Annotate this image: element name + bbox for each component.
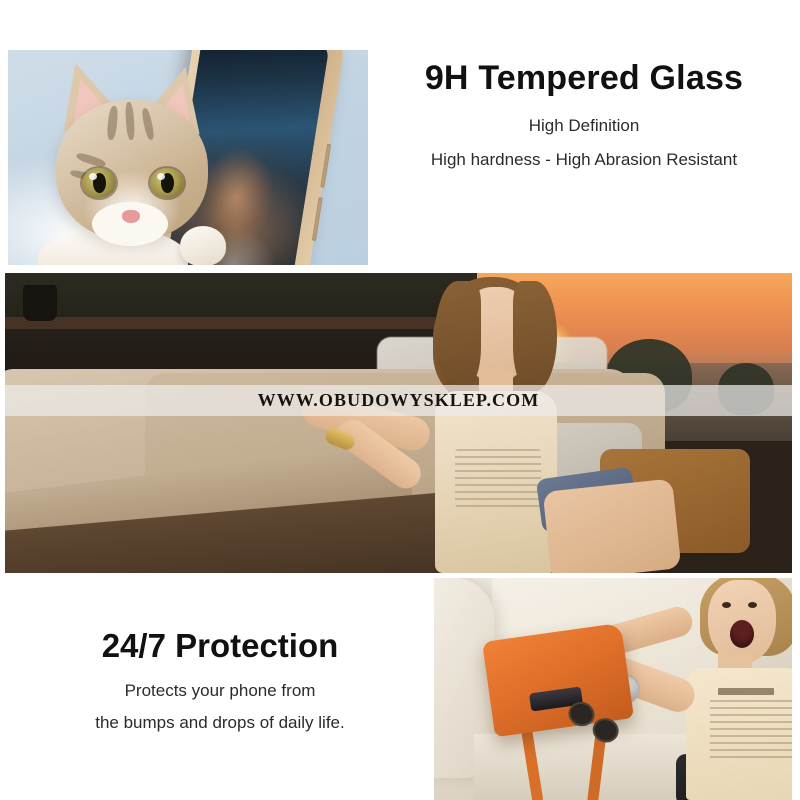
kitten-nose [122,210,140,223]
shelf [5,317,461,329]
subline-protects-phone: Protects your phone from [30,680,410,702]
tank-top-print-title [718,688,774,695]
section-tempered-glass: 9H Tempered Glass High Definition High h… [0,0,800,268]
kitten-eye-right [150,168,184,198]
photo-cat-with-phone [8,50,368,265]
photo-bag-sunset-banner: WWW.OBUDOWYSKLEP.COM [5,273,792,573]
watermark-text: WWW.OBUDOWYSKLEP.COM [258,390,540,411]
tempered-glass-copy: 9H Tempered Glass High Definition High h… [380,60,788,170]
subline-high-definition: High Definition [380,115,788,136]
watermark-band: WWW.OBUDOWYSKLEP.COM [5,385,792,416]
woman-with-bag [397,273,587,573]
protection-copy: 24/7 Protection Protects your phone from… [30,628,410,734]
woman-eye [748,602,757,608]
subline-bumps-drops: the bumps and drops of daily life. [30,712,410,734]
woman-hair-strand [435,281,481,391]
kitten [30,60,245,265]
kitten-paw [180,226,226,265]
kitten-eye-glint [157,173,165,180]
kitten-muzzle [92,202,168,246]
subline-hardness: High hardness - High Abrasion Resistant [380,149,788,170]
shocked-woman [656,578,792,800]
woman-eye [722,602,731,608]
woman-open-mouth [730,620,754,648]
section-protection: 24/7 Protection Protects your phone from… [0,573,800,800]
photo-bag-drop [434,578,792,800]
sunglasses-lens [590,715,622,746]
product-feature-page: 9H Tempered Glass High Definition High h… [0,0,800,800]
headline-tempered-glass: 9H Tempered Glass [380,60,788,97]
tank-top-print [710,700,792,762]
kitten-eye-left [82,168,116,198]
tank-top-print [455,449,541,507]
headline-protection: 24/7 Protection [30,628,410,664]
woman-legs [543,478,682,573]
vase [23,285,57,321]
kitten-eye-glint [89,173,97,180]
woman-hair-strand [513,281,557,391]
